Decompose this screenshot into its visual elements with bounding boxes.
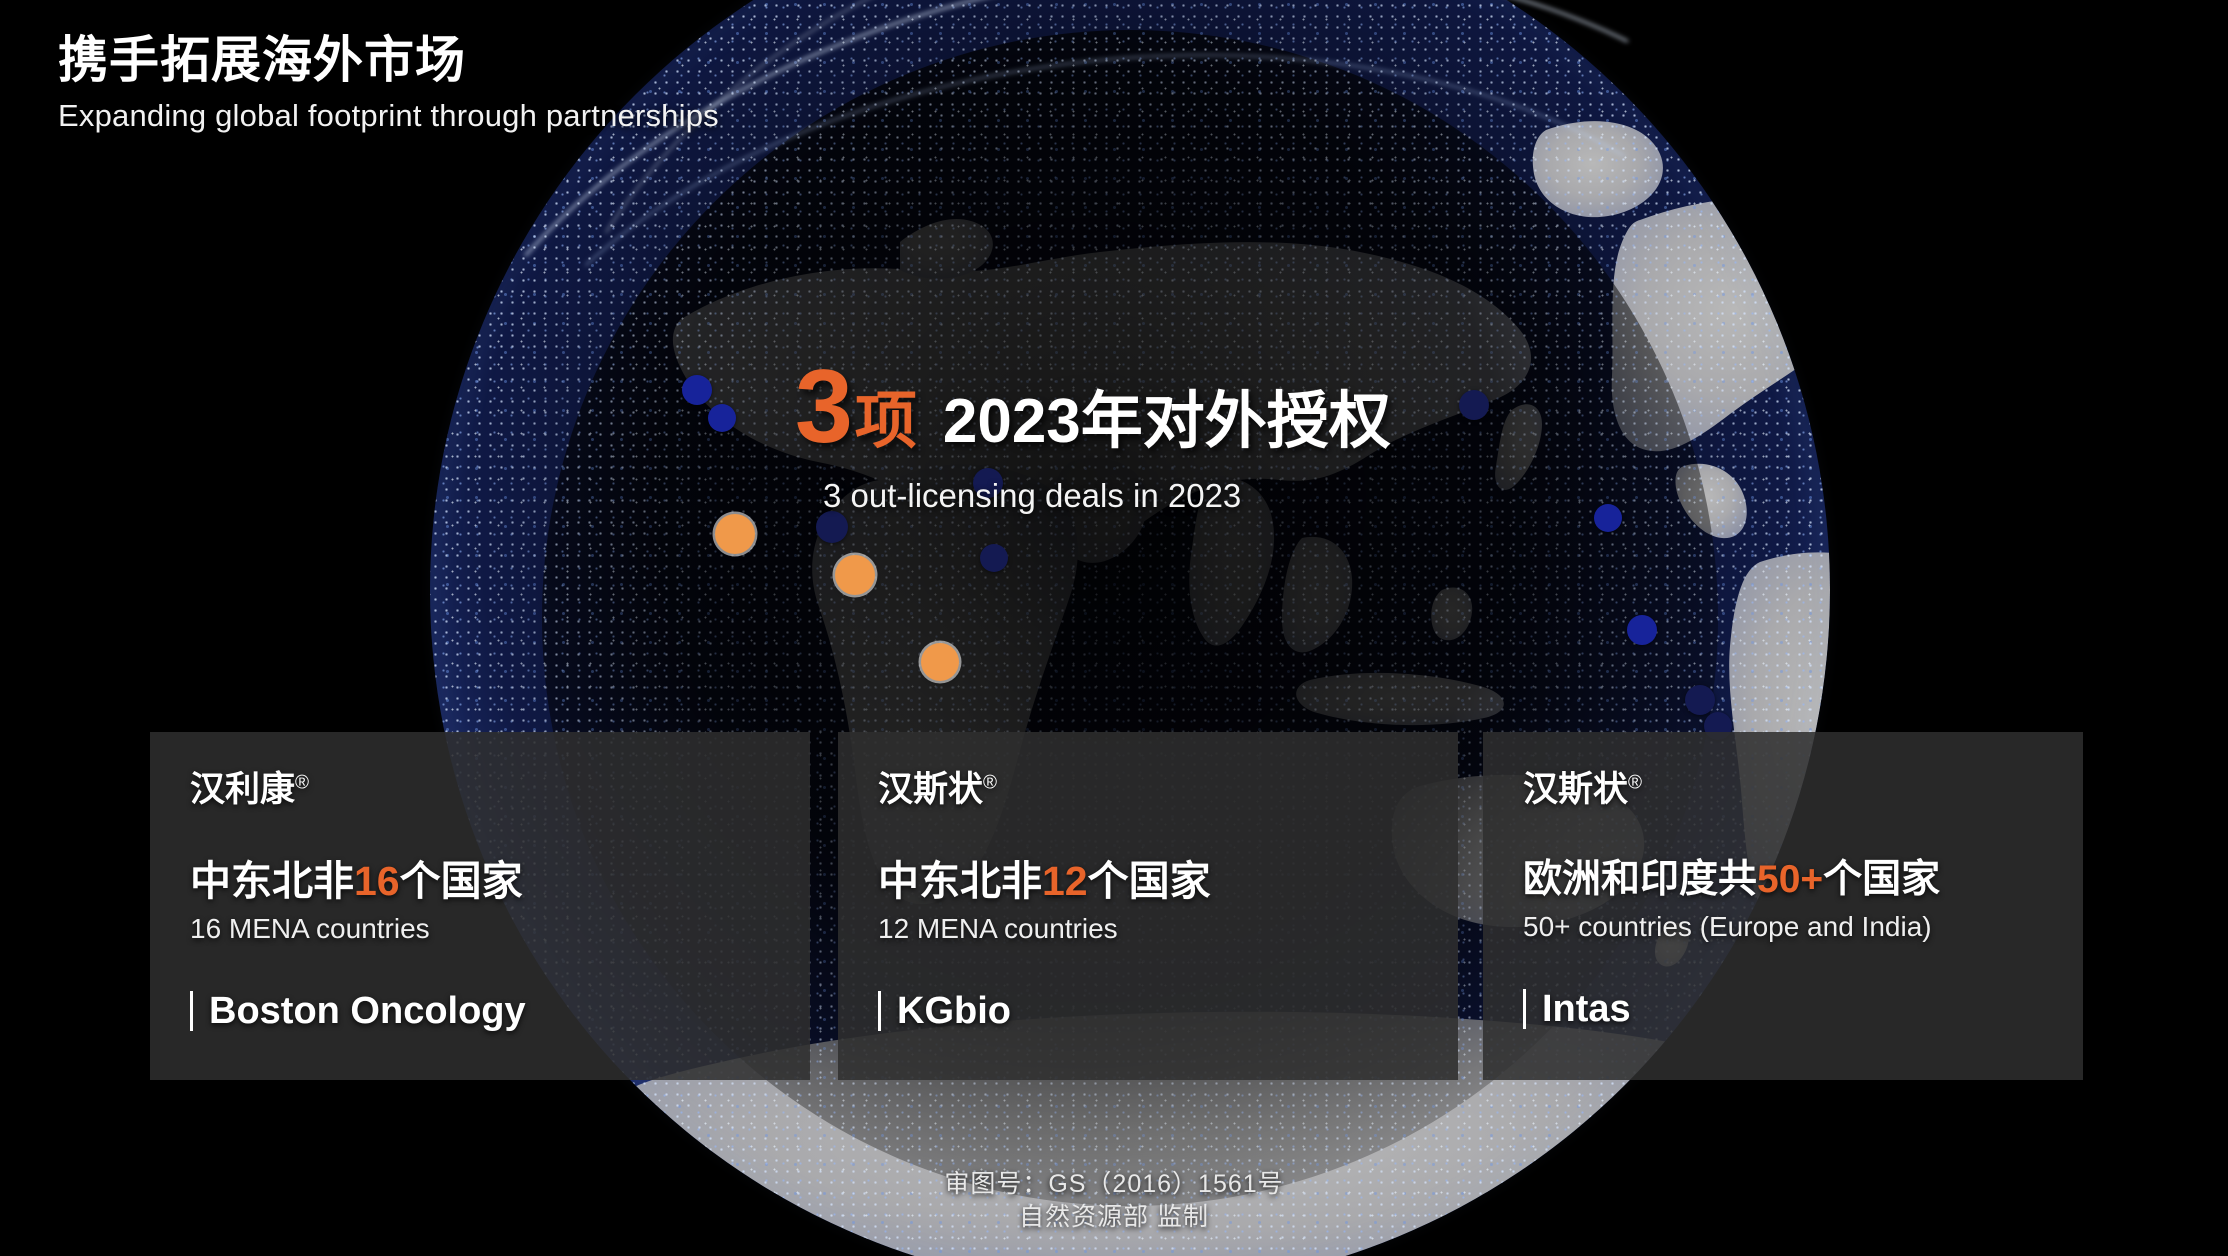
trademark-symbol: ® xyxy=(983,772,997,793)
coverage-suffix: 个国家 xyxy=(1823,858,1940,901)
headline-en: 3 out-licensing deals in 2023 xyxy=(823,477,1515,515)
partnership-card[interactable]: 汉利康® 中东北非16个国家 16 MENA countries Boston … xyxy=(150,732,810,1080)
coverage-count: 12 xyxy=(1042,858,1088,904)
product-brand: 汉斯状® xyxy=(878,772,1458,807)
coverage-stat-en: 12 MENA countries xyxy=(878,913,1458,945)
partner-accent-bar xyxy=(1523,989,1526,1029)
map-marker-navy xyxy=(980,544,1008,572)
map-marker-navy xyxy=(1627,615,1657,645)
product-brand: 汉斯状® xyxy=(1523,772,2083,807)
page-header: 携手拓展海外市场 Expanding global footprint thro… xyxy=(58,30,719,134)
map-authority: 自然资源部 监制 xyxy=(0,1201,2228,1234)
partner-row: KGbio xyxy=(878,991,1458,1031)
map-marker-orange xyxy=(715,514,755,554)
product-brand-name: 汉利康 xyxy=(190,770,295,809)
coverage-stat-cn: 欧洲和印度共50+个国家 xyxy=(1523,859,2083,902)
headline-row: 3 项 2023年对外授权 xyxy=(795,355,1515,459)
partner-row: Intas xyxy=(1523,989,2083,1029)
coverage-prefix: 中东北非 xyxy=(190,858,354,904)
slide-canvas: 携手拓展海外市场 Expanding global footprint thro… xyxy=(0,0,2228,1256)
deal-count-number: 3 xyxy=(795,355,853,459)
map-approval-number: 审图号：GS（2016）1561号 xyxy=(0,1168,2228,1201)
product-brand: 汉利康® xyxy=(190,772,810,807)
map-marker-navy xyxy=(708,404,736,432)
partner-row: Boston Oncology xyxy=(190,991,810,1031)
coverage-suffix: 个国家 xyxy=(400,858,523,904)
coverage-stat-en: 16 MENA countries xyxy=(190,913,810,945)
deal-count-unit: 项 xyxy=(855,391,917,453)
page-title-en: Expanding global footprint through partn… xyxy=(58,98,719,134)
partner-name: Intas xyxy=(1542,990,1631,1028)
trademark-symbol: ® xyxy=(295,772,309,793)
partner-name: KGbio xyxy=(897,992,1011,1030)
map-marker-navy xyxy=(1594,504,1622,532)
map-marker-navy xyxy=(1685,685,1715,715)
page-title-cn: 携手拓展海外市场 xyxy=(58,30,719,90)
map-marker-navy xyxy=(682,375,712,405)
coverage-prefix: 欧洲和印度共 xyxy=(1523,858,1757,901)
coverage-prefix: 中东北非 xyxy=(878,858,1042,904)
product-brand-name: 汉斯状 xyxy=(1523,770,1628,809)
coverage-stat-en: 50+ countries (Europe and India) xyxy=(1523,911,2083,943)
partner-accent-bar xyxy=(878,991,881,1031)
coverage-suffix: 个国家 xyxy=(1088,858,1211,904)
partner-accent-bar xyxy=(190,991,193,1031)
partner-name: Boston Oncology xyxy=(209,992,526,1030)
trademark-symbol: ® xyxy=(1628,772,1642,793)
coverage-count: 50+ xyxy=(1757,858,1823,901)
coverage-count: 16 xyxy=(354,858,400,904)
coverage-stat-cn: 中东北非16个国家 xyxy=(190,859,810,904)
map-marker-orange xyxy=(835,555,875,595)
map-marker-navy xyxy=(816,511,848,543)
partnership-card[interactable]: 汉斯状® 欧洲和印度共50+个国家 50+ countries (Europe … xyxy=(1483,732,2083,1080)
map-approval-footer: 审图号：GS（2016）1561号 自然资源部 监制 xyxy=(0,1168,2228,1234)
center-headline-block: 3 项 2023年对外授权 3 out-licensing deals in 2… xyxy=(795,355,1515,515)
partnership-cards: 汉利康® 中东北非16个国家 16 MENA countries Boston … xyxy=(150,732,2083,1080)
map-marker-orange xyxy=(921,643,959,681)
partnership-card[interactable]: 汉斯状® 中东北非12个国家 12 MENA countries KGbio xyxy=(838,732,1458,1080)
product-brand-name: 汉斯状 xyxy=(878,770,983,809)
coverage-stat-cn: 中东北非12个国家 xyxy=(878,859,1458,904)
headline-cn: 2023年对外授权 xyxy=(943,391,1391,453)
